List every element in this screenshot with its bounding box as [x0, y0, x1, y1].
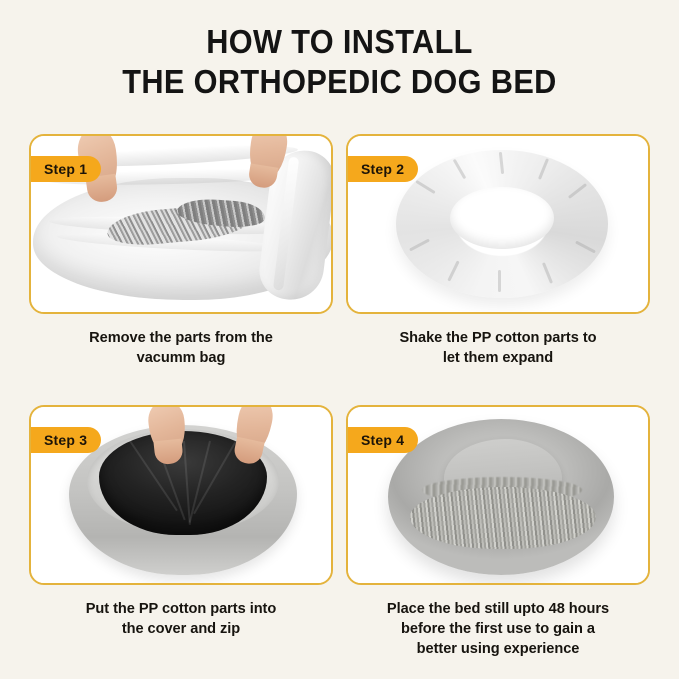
ring-seam — [575, 241, 596, 254]
step-badge-2: Step 2 — [348, 156, 418, 182]
ring-seam — [568, 183, 587, 199]
ring-center-hole — [450, 187, 554, 249]
step-caption-1: Remove the parts from the vacumm bag — [29, 328, 333, 368]
liner-pleat — [189, 441, 211, 523]
step-caption-3: Put the PP cotton parts into the cover a… — [29, 599, 333, 639]
ring-seam — [447, 260, 459, 281]
step-card-2: Step 2 — [346, 134, 650, 314]
step-cell-1: Step 1 Remove the parts from the vacumm … — [29, 134, 333, 368]
bed-fur-rim-front — [410, 487, 596, 549]
step-badge-3: Step 3 — [31, 427, 101, 453]
caption-line: Put the PP cotton parts into — [29, 599, 333, 619]
step-caption-4: Place the bed still upto 48 hours before… — [346, 599, 650, 659]
step-cell-2: Step 2 Shake the PP cotton parts to let … — [346, 134, 650, 368]
caption-line: Place the bed still upto 48 hours — [346, 599, 650, 619]
ring-seam — [498, 270, 501, 292]
ring-seam — [499, 152, 504, 174]
ring-seam — [415, 180, 435, 194]
how-to-install-poster: HOW TO INSTALL THE ORTHOPEDIC DOG BED — [0, 0, 679, 679]
step-card-4: Step 4 — [346, 405, 650, 585]
caption-line: Remove the parts from the — [29, 328, 333, 348]
step-caption-2: Shake the PP cotton parts to let them ex… — [346, 328, 650, 368]
step-badge-1: Step 1 — [31, 156, 101, 182]
ring-seam — [542, 262, 553, 284]
ring-seam — [538, 158, 549, 180]
caption-line: better using experience — [346, 639, 650, 659]
steps-grid: Step 1 Remove the parts from the vacumm … — [29, 134, 650, 664]
liner-pleat — [183, 441, 191, 525]
caption-line: let them expand — [346, 348, 650, 368]
ring-seam — [453, 159, 467, 180]
step-cell-4: Step 4 Place the bed still upto 48 hours… — [346, 405, 650, 659]
title-line-2: THE ORTHOPEDIC DOG BED — [24, 62, 655, 102]
caption-line: the cover and zip — [29, 619, 333, 639]
page-title: HOW TO INSTALL THE ORTHOPEDIC DOG BED — [0, 22, 679, 102]
step-card-1: Step 1 — [29, 134, 333, 314]
step-badge-4: Step 4 — [348, 427, 418, 453]
caption-line: vacumm bag — [29, 348, 333, 368]
donut-bed-shape — [388, 419, 614, 575]
title-line-1: HOW TO INSTALL — [24, 22, 655, 62]
ring-seam — [409, 239, 430, 252]
caption-line: before the first use to gain a — [346, 619, 650, 639]
caption-line: Shake the PP cotton parts to — [346, 328, 650, 348]
step-card-3: Step 3 — [29, 405, 333, 585]
step-cell-3: Step 3 Put the PP cotton parts into the … — [29, 405, 333, 639]
cotton-ring-shape — [396, 150, 608, 298]
